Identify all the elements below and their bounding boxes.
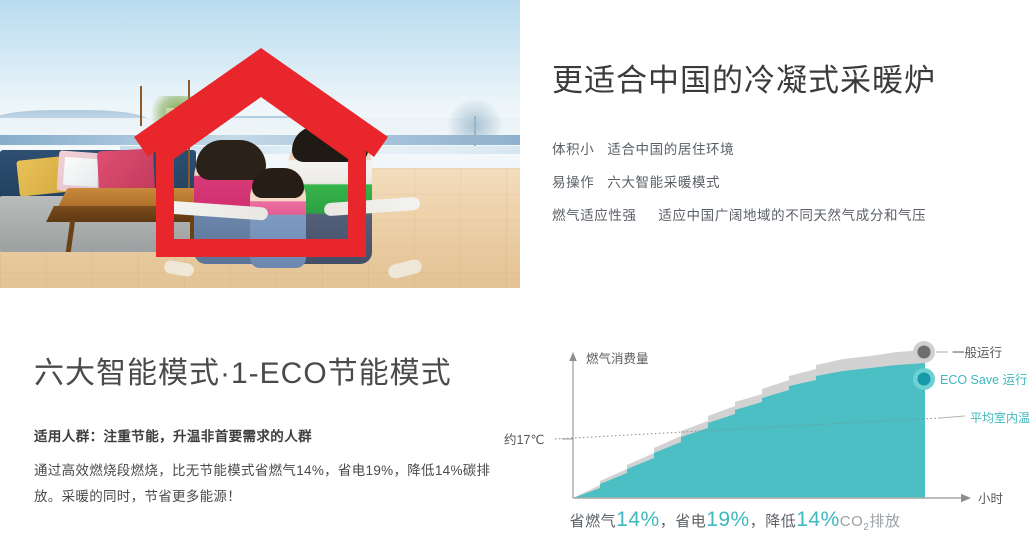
red-house-frame-icon xyxy=(130,45,392,260)
caption-co2-main: CO xyxy=(840,513,864,530)
legend-dot-eco xyxy=(918,373,931,386)
feature-body-line-2: 放。采暖的同时，节省更多能源！ xyxy=(34,484,504,510)
x-axis-label: 小时 xyxy=(978,492,1004,506)
legend-dot-normal xyxy=(918,346,931,359)
series-area-eco xyxy=(573,363,925,498)
caption-value-power: 19% xyxy=(706,508,750,531)
hero-bullet-list: 体积小 适合中国的居住环境 易操作 六大智能采暖模式 燃气适应性强 适应中国广阔… xyxy=(552,133,1022,232)
hero-title: 更适合中国的冷凝式采暖炉 xyxy=(552,62,1022,99)
legend-label-normal: 一般运行 xyxy=(952,345,1002,360)
feature-title: 六大智能模式·1-ECO节能模式 xyxy=(34,355,504,393)
x-axis-arrow-icon xyxy=(961,494,971,502)
bare-tree-icon xyxy=(448,98,502,144)
hero-bullet-2: 易操作 六大智能采暖模式 xyxy=(552,166,1022,199)
caption-co2: CO2排放 xyxy=(840,513,901,530)
feature-text-column: 六大智能模式·1-ECO节能模式 适用人群：注重节能，升温非首要需求的人群 通过… xyxy=(34,355,504,510)
caption-sep-power: ，省电 xyxy=(660,513,707,530)
hero-bullet-1: 体积小 适合中国的居住环境 xyxy=(552,133,1022,166)
temperature-annotation: 约17℃ xyxy=(504,432,544,447)
feature-body: 通过高效燃烧段燃烧，比无节能模式省燃气14%，省电19%，降低14%碳排 放。采… xyxy=(34,458,504,511)
chart-caption: 省燃气14%，省电19%，降低14%CO2排放 xyxy=(500,508,970,533)
hero-text-column: 更适合中国的冷凝式采暖炉 体积小 适合中国的居住环境 易操作 六大智能采暖模式 … xyxy=(552,62,1022,232)
feature-body-line-1: 通过高效燃烧段燃烧，比无节能模式省燃气14%，省电19%，降低14%碳排 xyxy=(34,458,504,484)
caption-value-co2: 14% xyxy=(796,508,840,531)
y-axis-arrow-icon xyxy=(569,352,577,361)
caption-co2-tail: 排放 xyxy=(869,513,900,530)
hero-bullet-3: 燃气适应性强 适应中国广阔地域的不同天然气成分和气压 xyxy=(552,199,1022,232)
indoor-temperature-label: 平均室内温度 xyxy=(970,410,1030,425)
caption-sep-reduce: ，降低 xyxy=(750,513,797,530)
hero-photo xyxy=(0,0,520,288)
y-axis-label: 燃气消费量 xyxy=(586,351,649,366)
product-page: 更适合中国的冷凝式采暖炉 体积小 适合中国的居住环境 易操作 六大智能采暖模式 … xyxy=(0,0,1030,555)
legend-label-eco: ECO Save 运行 xyxy=(940,373,1028,387)
caption-value-gas: 14% xyxy=(616,508,660,531)
indoor-temperature-leader xyxy=(940,416,965,418)
caption-prefix-gas: 省燃气 xyxy=(570,513,617,530)
feature-subtitle: 适用人群：注重节能，升温非首要需求的人群 xyxy=(34,425,504,445)
